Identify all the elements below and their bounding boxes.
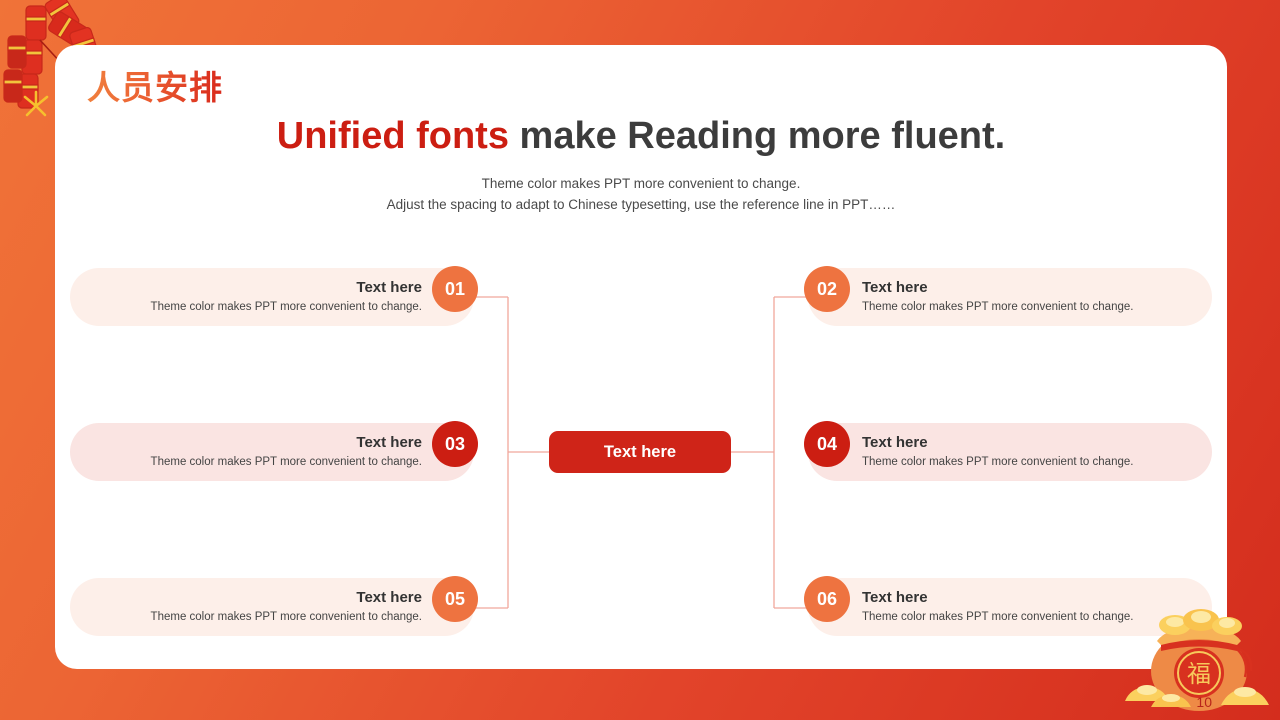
item-text-03: Text hereTheme color makes PPT more conv… [151, 433, 422, 471]
center-node[interactable]: Text here [549, 431, 731, 473]
page-title: 人员安排 [87, 61, 223, 109]
item-title-05: Text here [356, 588, 422, 607]
slide-card: 人员安排 Unified fonts make Reading more flu… [55, 45, 1227, 669]
subtitle-line-2: Adjust the spacing to adapt to Chinese t… [55, 194, 1227, 215]
item-text-06: Text hereTheme color makes PPT more conv… [862, 588, 1133, 626]
subtitle-line-1: Theme color makes PPT more convenient to… [55, 173, 1227, 194]
item-text-05: Text hereTheme color makes PPT more conv… [151, 588, 422, 626]
item-card-02[interactable]: Text hereTheme color makes PPT more conv… [808, 268, 1212, 326]
center-node-label: Text here [604, 443, 676, 462]
item-card-01[interactable]: Text hereTheme color makes PPT more conv… [70, 268, 474, 326]
item-text-04: Text hereTheme color makes PPT more conv… [862, 433, 1133, 471]
item-badge-02[interactable]: 02 [804, 266, 850, 312]
item-card-04[interactable]: Text hereTheme color makes PPT more conv… [808, 423, 1212, 481]
item-badge-04[interactable]: 04 [804, 421, 850, 467]
item-title-03: Text here [356, 433, 422, 452]
item-title-06: Text here [862, 588, 928, 607]
item-desc-04: Theme color makes PPT more convenient to… [862, 453, 1133, 471]
item-desc-05: Theme color makes PPT more convenient to… [151, 608, 422, 626]
headline-highlight: Unified fonts [277, 115, 509, 157]
item-title-02: Text here [862, 278, 928, 297]
item-desc-03: Theme color makes PPT more convenient to… [151, 453, 422, 471]
headline: Unified fonts make Reading more fluent. [55, 115, 1227, 158]
item-title-01: Text here [356, 278, 422, 297]
item-desc-01: Theme color makes PPT more convenient to… [151, 298, 422, 316]
item-badge-05[interactable]: 05 [432, 576, 478, 622]
item-desc-02: Theme color makes PPT more convenient to… [862, 298, 1133, 316]
item-badge-01[interactable]: 01 [432, 266, 478, 312]
item-text-01: Text hereTheme color makes PPT more conv… [151, 278, 422, 316]
item-text-02: Text hereTheme color makes PPT more conv… [862, 278, 1133, 316]
item-title-04: Text here [862, 433, 928, 452]
headline-rest: make Reading more fluent. [509, 115, 1005, 157]
item-desc-06: Theme color makes PPT more convenient to… [862, 608, 1133, 626]
money-bag-icon: 福 [1117, 589, 1272, 714]
subtitle: Theme color makes PPT more convenient to… [55, 173, 1227, 215]
page-number: 10 [1196, 694, 1212, 710]
item-card-03[interactable]: Text hereTheme color makes PPT more conv… [70, 423, 474, 481]
item-badge-03[interactable]: 03 [432, 421, 478, 467]
fu-character: 福 [1187, 660, 1211, 688]
item-badge-06[interactable]: 06 [804, 576, 850, 622]
item-card-05[interactable]: Text hereTheme color makes PPT more conv… [70, 578, 474, 636]
